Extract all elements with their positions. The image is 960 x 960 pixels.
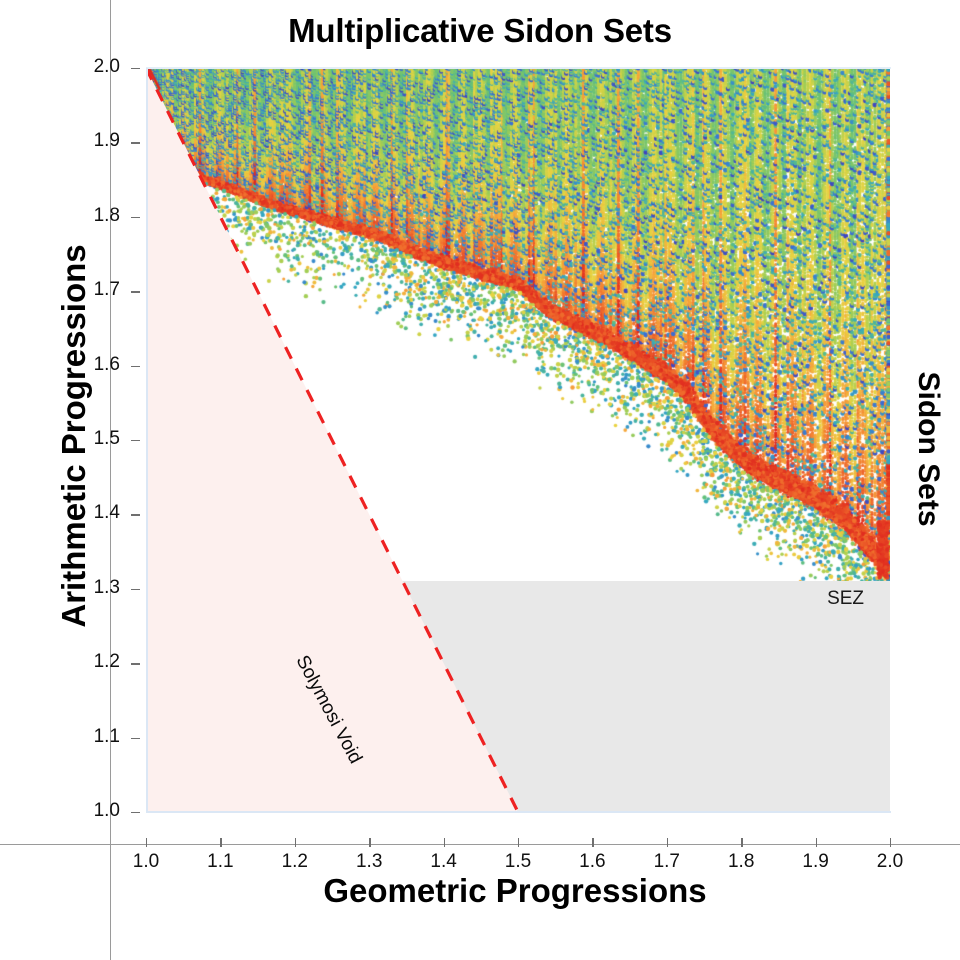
x-tick-mark [444, 838, 445, 847]
y-tick-mark [131, 514, 140, 515]
x-tick-label: 2.0 [860, 851, 920, 873]
y-tick-label: 1.0 [58, 800, 120, 822]
x-tick-label: 1.4 [414, 851, 474, 873]
y-tick-label: 1.3 [58, 577, 120, 599]
y-tick-mark [131, 663, 140, 664]
x-tick-mark [369, 838, 370, 847]
plot-area: Solymosi Void SEZ [146, 68, 890, 812]
x-tick-label: 1.0 [116, 851, 176, 873]
page-title: Multiplicative Sidon Sets [0, 12, 960, 50]
x-tick-mark [816, 838, 817, 847]
y-tick-label: 1.5 [58, 428, 120, 450]
x-tick-mark [890, 838, 891, 847]
plot-border-bottom [146, 811, 891, 813]
y-tick-label: 1.9 [58, 130, 120, 152]
x-tick-mark [295, 838, 296, 847]
chart-root: Multiplicative Sidon Sets Arithmetic Pro… [0, 0, 960, 960]
y-tick-mark [131, 440, 140, 441]
solymosi-void-boundary-line [146, 68, 890, 812]
x-tick-mark [518, 838, 519, 847]
y-tick-label: 1.7 [58, 279, 120, 301]
y-tick-label: 1.2 [58, 651, 120, 673]
x-tick-mark [220, 838, 221, 847]
y-tick-label: 1.1 [58, 726, 120, 748]
y-tick-label: 1.4 [58, 502, 120, 524]
x-tick-mark [146, 838, 147, 847]
y-tick-mark [131, 738, 140, 739]
y-tick-mark [131, 217, 140, 218]
x-axis-title: Geometric Progressions [110, 872, 920, 910]
x-tick-label: 1.7 [637, 851, 697, 873]
y-tick-label: 1.6 [58, 354, 120, 376]
y-tick-mark [131, 291, 140, 292]
x-tick-label: 1.5 [488, 851, 548, 873]
right-axis-title: Sidon Sets [911, 284, 945, 614]
x-tick-label: 1.6 [562, 851, 622, 873]
x-tick-label: 1.1 [190, 851, 250, 873]
y-tick-mark [131, 812, 140, 813]
y-tick-mark [131, 142, 140, 143]
x-tick-mark [592, 838, 593, 847]
x-tick-mark [667, 838, 668, 847]
x-tick-label: 1.2 [265, 851, 325, 873]
x-tick-label: 1.3 [339, 851, 399, 873]
y-tick-label: 2.0 [58, 56, 120, 78]
plot-border-top [146, 67, 891, 69]
y-tick-mark [131, 68, 140, 69]
y-tick-mark [131, 366, 140, 367]
y-tick-label: 1.8 [58, 205, 120, 227]
x-tick-label: 1.9 [786, 851, 846, 873]
annotation-sez: SEZ [827, 588, 864, 610]
y-tick-mark [131, 589, 140, 590]
plot-border-left [146, 68, 148, 812]
x-tick-label: 1.8 [711, 851, 771, 873]
x-tick-mark [741, 838, 742, 847]
